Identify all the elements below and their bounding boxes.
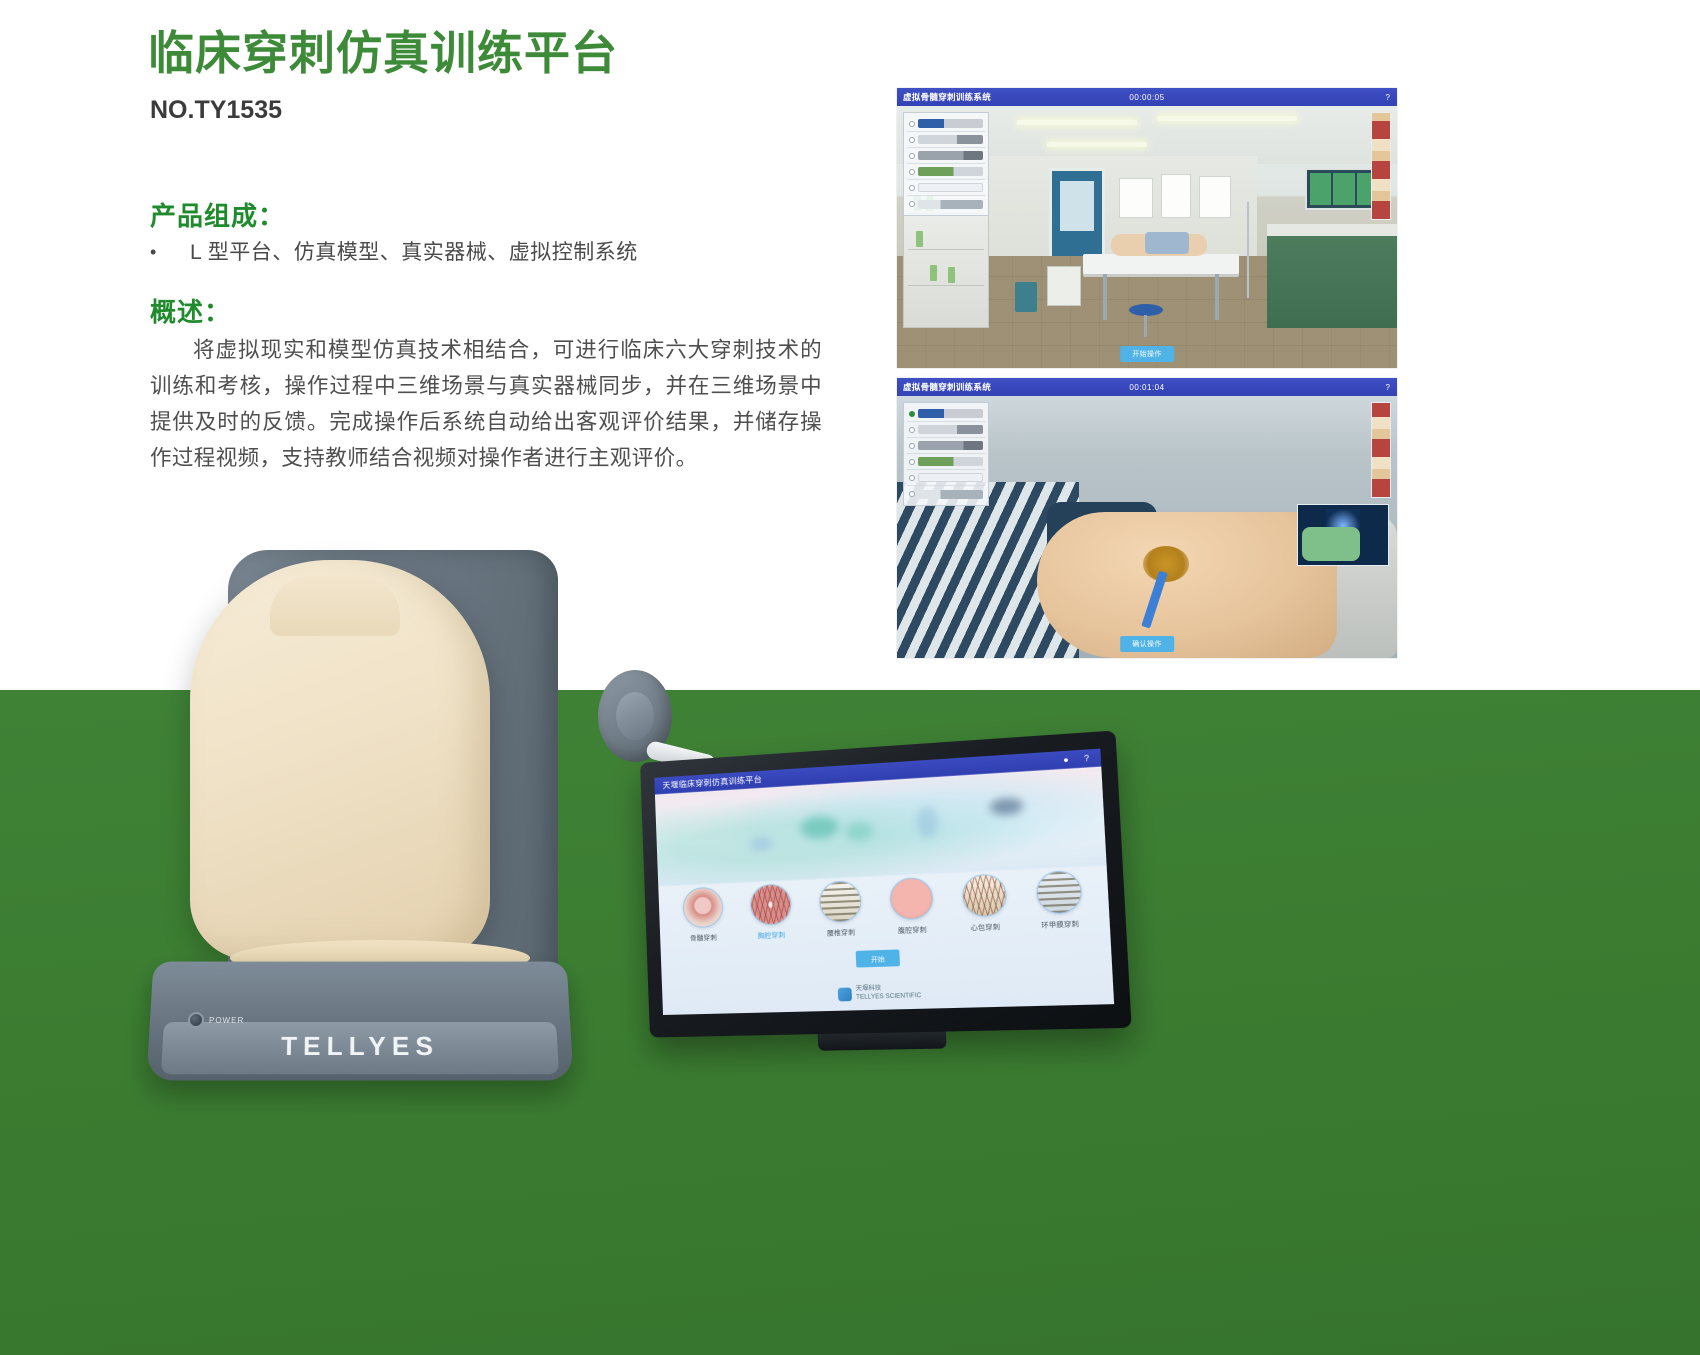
sim-app-title-2: 虚拟骨髓穿刺训练系统 [903,381,991,393]
product-brochure-page: 临床穿刺仿真训练平台 NO.TY1535 产品组成： • L 型平台、仿真模型、… [0,0,1700,1355]
module-label: 胸腔穿刺 [745,928,799,940]
needle-icon [918,409,983,418]
logo-line-2: TELLYES SCIENTIFIC [856,992,921,1000]
module-label: 腰椎穿刺 [814,925,869,937]
operator-stool [1129,304,1163,316]
sim-viewport-1: 开始操作 [897,106,1397,368]
vial-icon [918,490,983,499]
sim-timer-1: 00:00:05 [1129,93,1164,102]
module-item-pericardial[interactable]: 心包穿刺 [954,873,1014,933]
vial-icon [918,200,983,209]
tool-item[interactable] [907,454,985,470]
bullet-marker-icon: • [150,238,168,266]
instrument-tool-panel-2[interactable] [903,402,989,506]
tool-radio-icon[interactable] [909,475,915,481]
sim-titlebar-2: 虚拟骨髓穿刺训练系统 00:01:04 ? [897,378,1397,396]
module-label: 骨髓穿刺 [677,931,730,943]
tool-radio-icon[interactable] [909,411,915,417]
tool-item[interactable] [907,196,985,212]
tool-item[interactable] [907,132,985,148]
touchscreen-monitor: 天堰临床穿刺仿真训练平台 ● ? 骨髓穿刺 [640,730,1132,1037]
company-logo: 天堰科技 TELLYES SCIENTIFIC [838,985,922,1003]
iv-pole [1247,202,1249,298]
tool-radio-icon[interactable] [909,169,915,175]
thoracic-icon [749,883,792,926]
virtual-patient [1111,234,1207,256]
tool-item[interactable] [907,470,985,486]
tool-item[interactable] [907,422,985,438]
bone-marrow-icon [682,886,724,928]
tool-radio-icon[interactable] [909,443,915,449]
tool-item[interactable] [907,486,985,502]
examination-bed [1083,254,1239,274]
cricothyroid-icon [1035,870,1082,915]
logo-line-1: 天堰科技 [856,986,882,993]
instrument-cart [1047,266,1081,306]
user-icon[interactable]: ● [1063,755,1069,765]
right-counter [1267,224,1397,328]
screenshot-clinic-room: 虚拟骨髓穿刺训练系统 00:00:05 ? [897,88,1397,368]
overview-paragraph: 将虚拟现实和模型仿真技术相结合，可进行临床六大穿刺技术的训练和考核，操作过程中三… [150,332,822,476]
sim-viewport-2: 确认操作 [897,396,1397,658]
start-button[interactable]: 开始 [856,949,900,967]
composition-list-item: • L 型平台、仿真模型、真实器械、虚拟控制系统 [150,238,870,268]
tool-radio-icon[interactable] [909,185,915,191]
ceiling-light [1017,120,1137,125]
tool-item[interactable] [907,148,985,164]
sim-timer-2: 00:01:04 [1129,383,1164,392]
module-item-bone-marrow[interactable]: 骨髓穿刺 [676,886,730,943]
brand-logo-text: TELLYES [148,1031,573,1062]
instrument-tool-panel-1[interactable] [903,112,989,216]
sim-titlebar-1: 虚拟骨髓穿刺训练系统 00:00:05 ? [897,88,1397,106]
help-icon[interactable]: ? [1386,93,1390,102]
inset-detail-view [1297,504,1389,566]
manikin-shoulder [270,576,400,636]
wall-chart [1161,174,1191,218]
module-item-abdominal[interactable]: 腹腔穿刺 [882,876,941,935]
wall-chart [1119,178,1153,218]
module-label: 心包穿刺 [957,920,1015,933]
help-icon[interactable]: ? [1084,754,1090,764]
forceps-icon [918,151,983,160]
gauze-icon [918,183,983,192]
monitor-bezel: 天堰临床穿刺仿真训练平台 ● ? 骨髓穿刺 [640,730,1132,1037]
model-number: NO.TY1535 [150,96,282,125]
gloved-hand [1302,527,1360,561]
power-button-icon[interactable] [188,1012,205,1028]
swab-icon [918,167,983,176]
ceiling-light [1047,142,1147,147]
module-label: 环甲膜穿刺 [1031,917,1090,930]
logo-mark-icon [838,988,852,1002]
tool-radio-icon[interactable] [909,459,915,465]
syringe-icon [918,425,983,434]
abdomen-icon [889,877,934,921]
waste-bin [1015,282,1037,312]
tool-radio-icon[interactable] [909,137,915,143]
module-item-lumbar[interactable]: 腰椎穿刺 [812,880,869,938]
tissue-layer-indicator [1371,112,1391,220]
swab-icon [918,457,983,466]
bed-legs [1103,274,1219,320]
tool-radio-icon[interactable] [909,491,915,497]
tool-radio-icon[interactable] [909,201,915,207]
module-label: 腹腔穿刺 [884,923,940,936]
tool-item[interactable] [907,116,985,132]
overview-heading: 概述： [150,292,231,329]
tool-item[interactable] [907,406,985,422]
tool-item[interactable] [907,180,985,196]
tissue-layer-indicator [1371,402,1391,498]
monitor-screen: 天堰临床穿刺仿真训练平台 ● ? 骨髓穿刺 [654,749,1114,1015]
patient-torso [1037,512,1337,658]
l-platform-simulator: POWER TELLYES [150,520,620,1080]
power-label: POWER [209,1016,245,1025]
tool-item[interactable] [907,164,985,180]
page-title: 临床穿刺仿真训练平台 [148,28,618,79]
platform-base: POWER TELLYES [146,962,573,1081]
scene-action-button-2[interactable]: 确认操作 [1120,636,1174,652]
manikin-torso [190,560,490,960]
lumbar-spine-icon [818,880,862,923]
logo-text: 天堰科技 TELLYES SCIENTIFIC [856,985,922,1002]
needle-icon [918,119,983,128]
forceps-icon [918,441,983,450]
sim-app-title-1: 虚拟骨髓穿刺训练系统 [903,91,991,103]
module-item-thoracic[interactable]: 胸腔穿刺 [743,883,799,940]
module-item-cricothyroid[interactable]: 环甲膜穿刺 [1028,870,1090,930]
pericardium-icon [961,873,1007,917]
syringe-icon [918,135,983,144]
composition-item-text: L 型平台、仿真模型、真实器械、虚拟控制系统 [190,238,638,268]
screenshot-puncture-closeup: 虚拟骨髓穿刺训练系统 00:01:04 ? [897,378,1397,658]
power-indicator[interactable]: POWER [188,1012,245,1028]
gauze-icon [918,473,983,482]
tool-item[interactable] [907,438,985,454]
help-icon[interactable]: ? [1386,383,1390,392]
ceiling-light [1157,116,1297,121]
tool-radio-icon[interactable] [909,121,915,127]
monitor-stand [818,1032,947,1051]
tool-radio-icon[interactable] [909,153,915,159]
wall-chart [1199,176,1231,218]
scene-action-button-1[interactable]: 开始操作 [1120,346,1174,362]
composition-heading: 产品组成： [150,196,285,233]
tool-radio-icon[interactable] [909,427,915,433]
